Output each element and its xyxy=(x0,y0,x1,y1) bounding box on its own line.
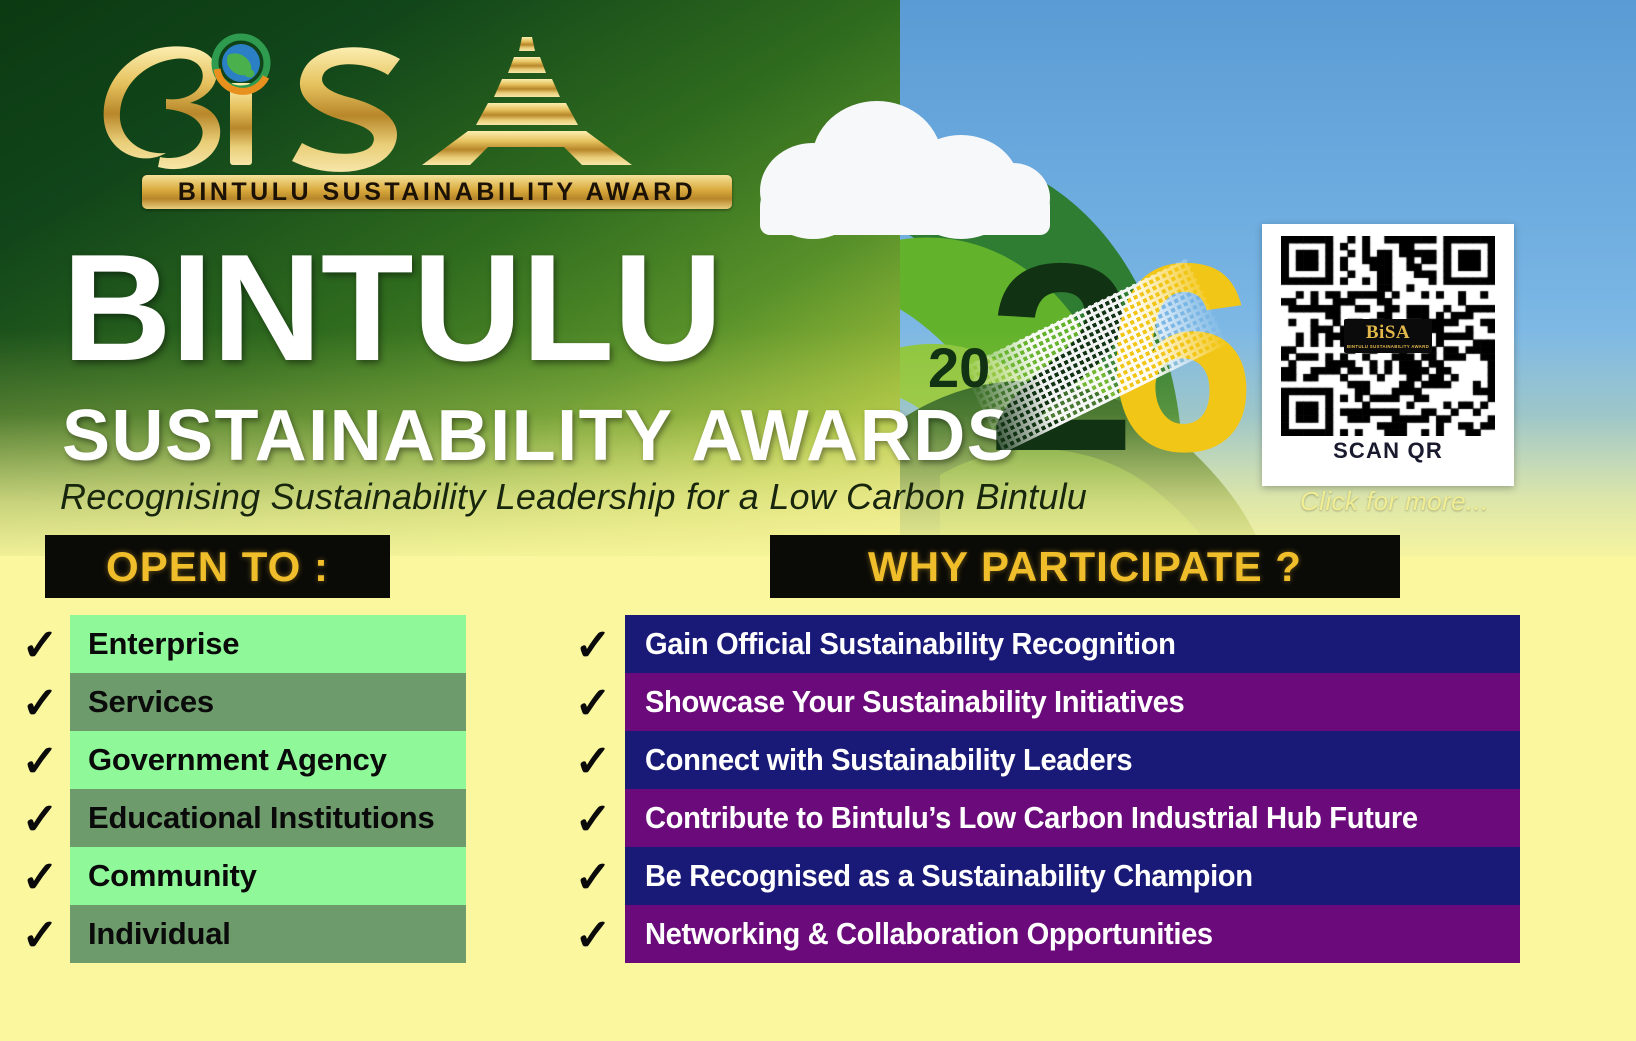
checkmark-icon: ✓ xyxy=(15,624,65,668)
open-to-item-row: ✓Government Agency xyxy=(70,731,466,789)
qr-code-image[interactable]: BiSA BINTULU SUSTAINABILITY AWARD xyxy=(1281,236,1495,436)
why-participate-item-label: Contribute to Bintulu’s Low Carbon Indus… xyxy=(645,800,1418,836)
why-participate-item-label: Showcase Your Sustainability Initiatives xyxy=(645,684,1184,720)
checkmark-icon: ✓ xyxy=(15,914,65,958)
qr-code-card[interactable]: BiSA BINTULU SUSTAINABILITY AWARD SCAN Q… xyxy=(1262,224,1514,486)
why-participate-heading-text: WHY PARTICIPATE ? xyxy=(868,543,1302,591)
page-subtitle: SUSTAINABILITY AWARDS xyxy=(62,400,1016,472)
open-to-item-label: Services xyxy=(88,684,214,720)
why-participate-item-row: ✓Contribute to Bintulu’s Low Carbon Indu… xyxy=(625,789,1520,847)
checkmark-icon: ✓ xyxy=(15,798,65,842)
checkmark-icon: ✓ xyxy=(568,914,618,958)
open-to-item-row: ✓Services xyxy=(70,673,466,731)
qr-embedded-logo-subtext: BINTULU SUSTAINABILITY AWARD xyxy=(1347,344,1429,349)
open-to-item-row: ✓Enterprise xyxy=(70,615,466,673)
why-participate-item-row: ✓Networking & Collaboration Opportunitie… xyxy=(625,905,1520,963)
open-to-item-label: Community xyxy=(88,858,257,894)
open-to-item-label: Educational Institutions xyxy=(88,800,435,836)
year-prefix-20: 20 xyxy=(928,335,990,400)
why-participate-item-label: Be Recognised as a Sustainability Champi… xyxy=(645,858,1253,894)
open-to-item-label: Individual xyxy=(88,916,231,952)
open-to-item-row: ✓Educational Institutions xyxy=(70,789,466,847)
checkmark-icon: ✓ xyxy=(15,682,65,726)
why-participate-item-row: ✓Gain Official Sustainability Recognitio… xyxy=(625,615,1520,673)
open-to-item-label: Government Agency xyxy=(88,742,387,778)
page-title: BINTULU xyxy=(62,232,722,384)
bisa-logo-mark xyxy=(70,25,670,170)
open-to-item-row: ✓Individual xyxy=(70,905,466,963)
open-to-heading-text: OPEN TO : xyxy=(106,543,329,591)
click-for-more-link[interactable]: Click for more... xyxy=(1300,486,1489,517)
open-to-list: ✓Enterprise✓Services✓Government Agency✓E… xyxy=(70,615,466,963)
checkmark-icon: ✓ xyxy=(15,856,65,900)
poster-root: BINTULU SUSTAINABILITY AWARD BINTULU SUS… xyxy=(0,0,1636,1041)
checkmark-icon: ✓ xyxy=(568,798,618,842)
why-participate-heading-bar: WHY PARTICIPATE ? xyxy=(770,535,1400,598)
bisa-logo: BINTULU SUSTAINABILITY AWARD xyxy=(70,25,670,215)
open-to-item-row: ✓Community xyxy=(70,847,466,905)
open-to-heading-bar: OPEN TO : xyxy=(45,535,390,598)
open-to-item-label: Enterprise xyxy=(88,626,239,662)
why-participate-item-label: Networking & Collaboration Opportunities xyxy=(645,916,1213,952)
scan-qr-label: SCAN QR xyxy=(1333,438,1443,464)
why-participate-item-row: ✓Connect with Sustainability Leaders xyxy=(625,731,1520,789)
logo-nameplate: BINTULU SUSTAINABILITY AWARD xyxy=(142,175,732,209)
why-participate-item-label: Connect with Sustainability Leaders xyxy=(645,742,1132,778)
checkmark-icon: ✓ xyxy=(568,682,618,726)
why-participate-item-row: ✓Be Recognised as a Sustainability Champ… xyxy=(625,847,1520,905)
checkmark-icon: ✓ xyxy=(568,740,618,784)
qr-embedded-logo: BiSA BINTULU SUSTAINABILITY AWARD xyxy=(1344,319,1432,353)
qr-embedded-logo-letters: BiSA xyxy=(1366,323,1410,342)
why-participate-item-row: ✓Showcase Your Sustainability Initiative… xyxy=(625,673,1520,731)
checkmark-icon: ✓ xyxy=(568,856,618,900)
why-participate-item-label: Gain Official Sustainability Recognition xyxy=(645,626,1176,662)
logo-nameplate-text: BINTULU SUSTAINABILITY AWARD xyxy=(178,178,696,207)
year-badge: 2 6 20 xyxy=(915,250,1215,505)
checkmark-icon: ✓ xyxy=(15,740,65,784)
checkmark-icon: ✓ xyxy=(568,624,618,668)
why-participate-list: ✓Gain Official Sustainability Recognitio… xyxy=(625,615,1520,963)
